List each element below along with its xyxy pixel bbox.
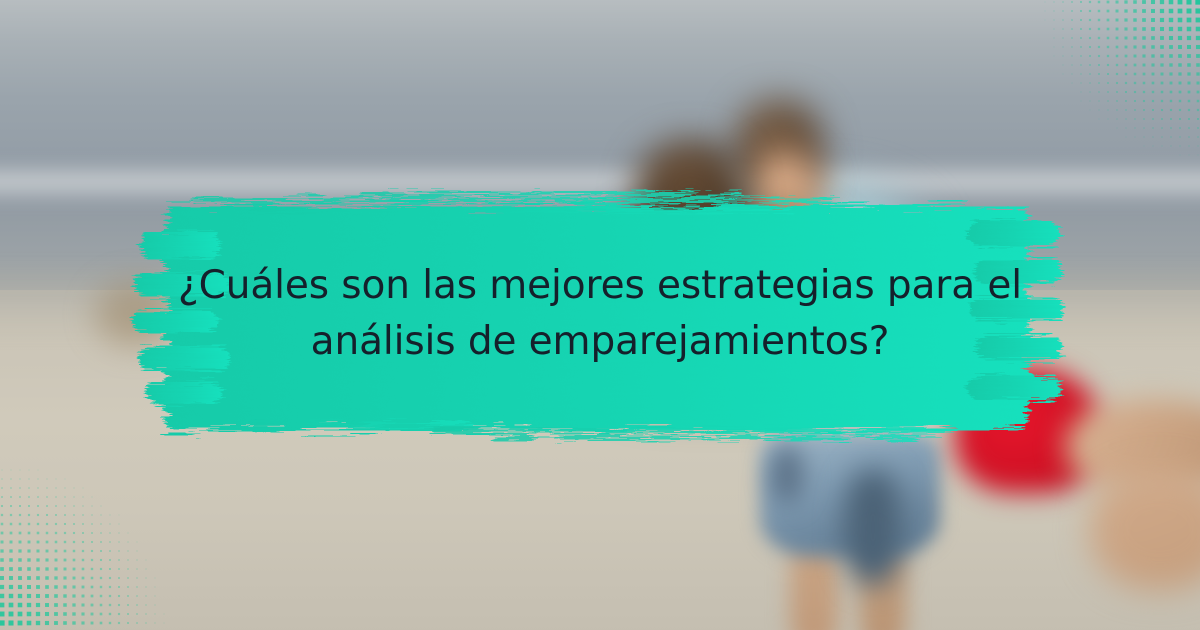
shorts-inner-shadow — [845, 470, 901, 585]
banner-image: ¿Cuáles son las mejores estrategias para… — [0, 0, 1200, 630]
brush-streaks-top — [192, 192, 832, 212]
blurred-hand — [1090, 470, 1200, 590]
shorts-fold-shadow — [770, 445, 804, 505]
headline-text: ¿Cuáles son las mejores estrategias para… — [150, 258, 1050, 370]
